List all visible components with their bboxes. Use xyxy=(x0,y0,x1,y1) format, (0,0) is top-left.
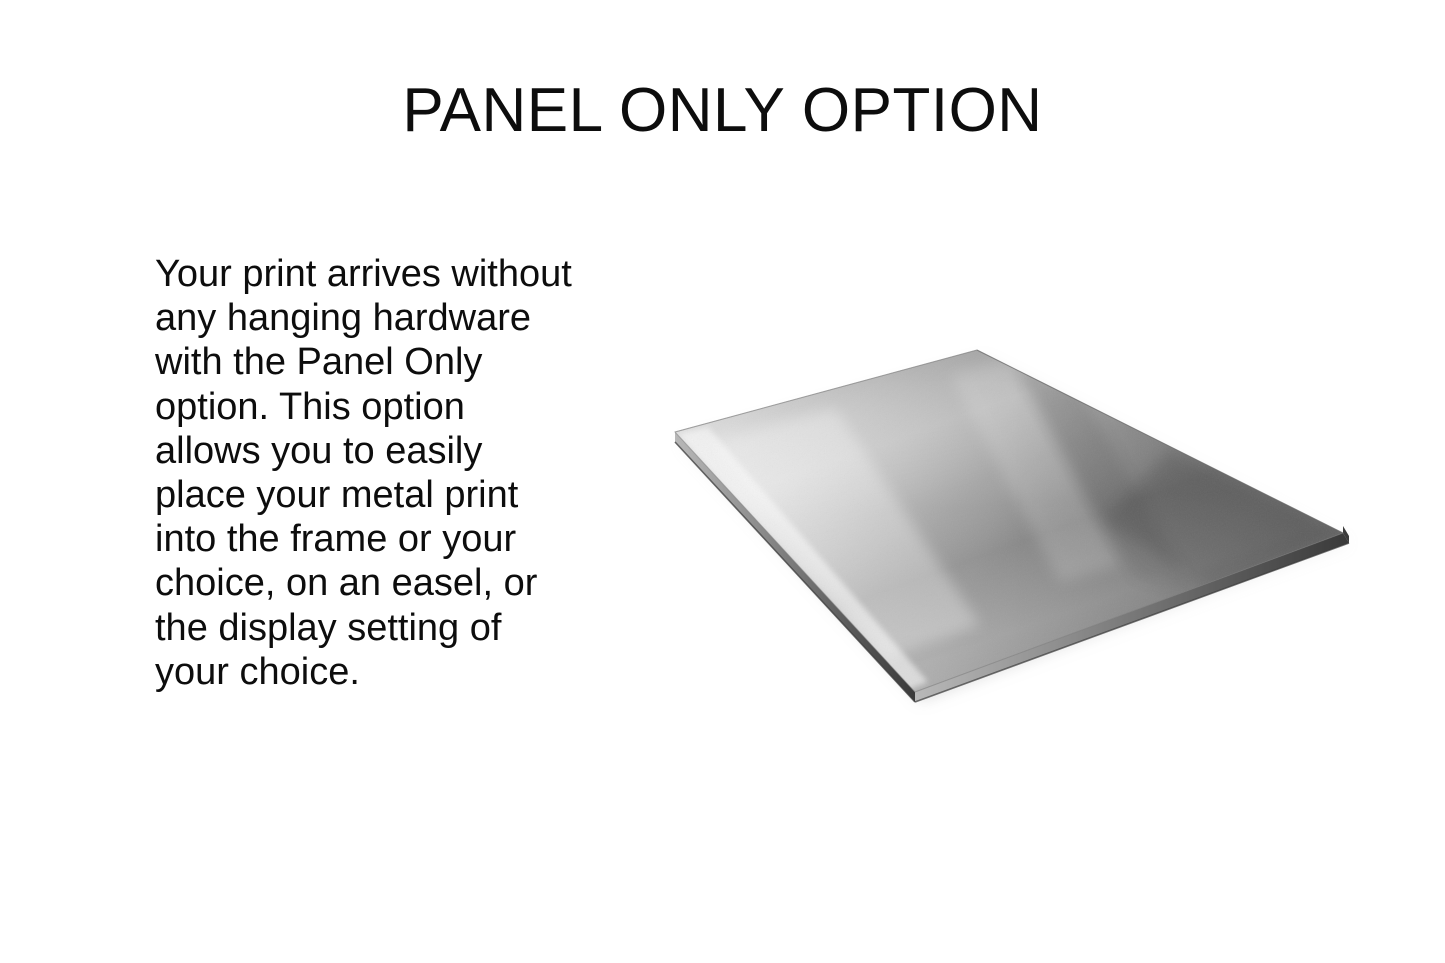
body-paragraph: Your print arrives without any hanging h… xyxy=(155,252,575,694)
slide-panel-only-option: PANEL ONLY OPTION Your print arrives wit… xyxy=(0,0,1445,963)
page-title: PANEL ONLY OPTION xyxy=(0,78,1445,143)
metal-panel-svg xyxy=(650,330,1370,720)
metal-panel-illustration xyxy=(650,330,1370,720)
